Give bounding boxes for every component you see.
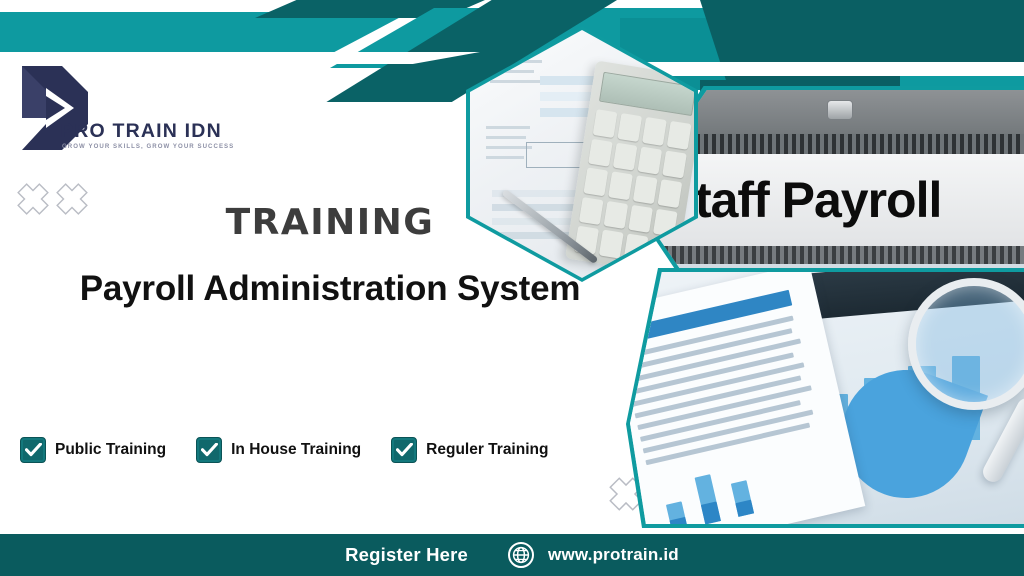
flyer-canvas: PRO TRAIN IDN GROW YOUR SKILLS, GROW YOU… [0,0,1024,576]
brand-logo: PRO TRAIN IDN GROW YOUR SKILLS, GROW YOU… [16,62,216,162]
checkbox-checked-icon[interactable] [20,437,46,463]
training-option-in-house[interactable]: In House Training [196,437,361,463]
binder-label-text: Staff Payroll [663,171,942,229]
training-option-label: Reguler Training [426,441,548,459]
calculator-document-photo [466,26,698,282]
footer-bar: Register Here www.protrain.id [0,534,1024,576]
website-group[interactable]: www.protrain.id [508,542,679,568]
training-option-label: In House Training [231,441,361,459]
brand-name: PRO TRAIN IDN [60,120,222,143]
checkbox-checked-icon[interactable] [196,437,222,463]
training-option-public[interactable]: Public Training [20,437,166,463]
register-here-label[interactable]: Register Here [345,544,468,566]
website-url[interactable]: www.protrain.id [548,545,679,565]
training-option-label: Public Training [55,441,166,459]
sales-chart-photo [626,268,1024,528]
deco-block-top-right [770,0,1024,86]
training-options-row: Public Training In House Training Regule… [20,437,548,463]
binder-clip-icon [827,100,853,120]
training-option-reguler[interactable]: Reguler Training [391,437,548,463]
checkbox-checked-icon[interactable] [391,437,417,463]
deco-band-top-right-dark [700,0,1024,100]
deco-band-top-left [0,12,410,52]
globe-icon [508,542,534,568]
deco-band-top-dark [255,0,485,18]
brand-tagline: GROW YOUR SKILLS, GROW YOUR SUCCESS [62,143,234,150]
